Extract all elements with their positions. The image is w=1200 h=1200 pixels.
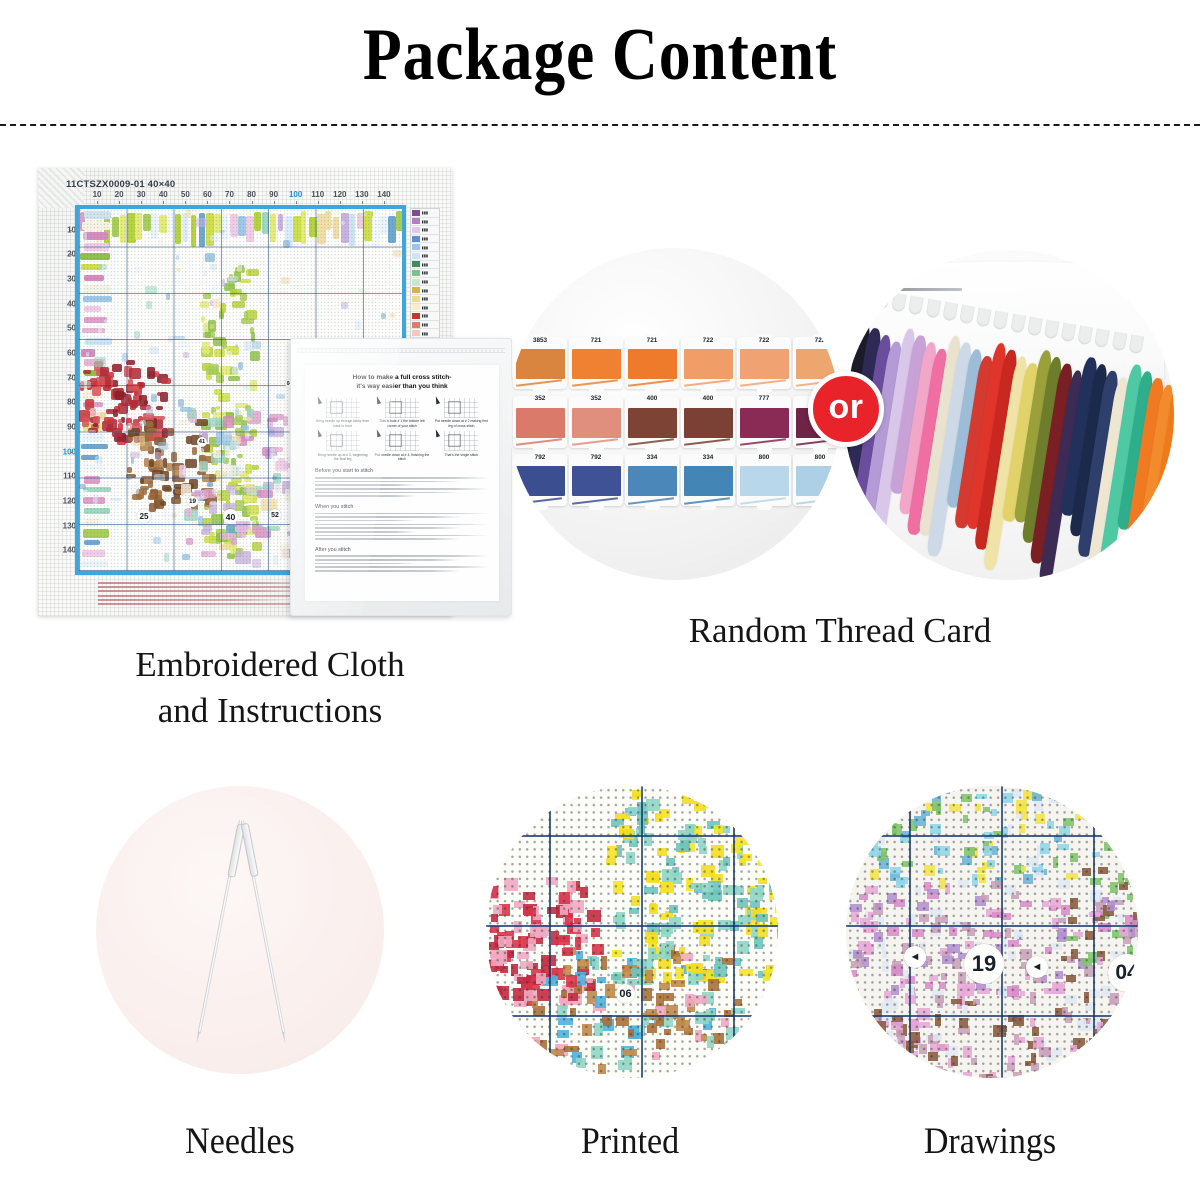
ruler-top-tick-label: 30 <box>137 190 146 199</box>
bobbin-code-label: 3853 <box>513 337 567 344</box>
thread-bobbin: 400 <box>681 393 735 452</box>
ruler-tick <box>70 550 73 551</box>
bobbin-thread-tail <box>572 380 618 387</box>
thread-bobbin: 800 <box>793 451 840 510</box>
ruler-tick <box>70 452 73 453</box>
bobbin-thread-tail <box>740 380 786 387</box>
warning-text-line <box>98 599 288 601</box>
ruler-tick <box>318 201 319 204</box>
legend-symbol: ▮▮▮ <box>422 288 429 293</box>
legend-symbol: ▮▮▮ <box>422 279 429 284</box>
ruler-top-tick-label: 80 <box>247 190 256 199</box>
closeup-symbol-marker: 04 <box>1108 954 1138 992</box>
ruler-left-tick-label: 20 <box>58 250 76 259</box>
bobbin-card <box>569 454 623 506</box>
bobbin-thread-tail <box>516 497 562 504</box>
bobbin-thread-tail <box>516 380 562 387</box>
organizer-card-code <box>898 288 962 291</box>
legend-swatch <box>412 279 420 285</box>
thread-bobbin: 722 <box>737 334 791 393</box>
instruction-step-caption: Put needle down at # 2 making first leg … <box>434 419 489 428</box>
bobbin-code-label: 792 <box>513 454 567 461</box>
thread-bobbin: 800 <box>737 451 791 510</box>
ruler-left-tick-label: 100 <box>58 447 76 456</box>
ruler-tick <box>274 201 275 204</box>
legend-symbol: ▮▮▮ <box>422 262 429 267</box>
bobbin-thread <box>740 408 789 438</box>
thread-bobbin: 3853 <box>513 334 567 393</box>
legend-swatch <box>412 304 420 310</box>
ruler-tick <box>70 353 73 354</box>
legend-symbol: ▮▮▮ <box>422 227 429 232</box>
ruler-tick <box>70 402 73 403</box>
legend-row: ▮▮▮ <box>411 269 439 278</box>
bobbin-thread-tail <box>628 497 674 504</box>
bobbin-card <box>625 454 679 506</box>
legend-row: ▮▮▮ <box>411 226 439 235</box>
bobbin-card <box>513 454 567 506</box>
legend-row: ▮▮▮ <box>411 329 439 338</box>
bobbin-thread-tail <box>740 497 786 504</box>
thread-card-group: 3853721721722722722352352400400777777792… <box>508 248 1180 598</box>
thread-bobbin-photo: 3853721721722722722352352400400777777792… <box>508 248 840 580</box>
legend-row: ▮▮▮ <box>411 252 439 261</box>
bobbin-thread <box>516 349 565 379</box>
bobbin-thread <box>516 466 565 496</box>
organizer-notch <box>874 290 890 310</box>
ruler-tick <box>70 279 73 280</box>
closeup-glyph-marker: ◄ <box>1026 956 1048 978</box>
caption-cloth-line2: and Instructions <box>30 688 510 734</box>
bobbin-thread <box>628 408 677 438</box>
bobbin-code-label: 721 <box>569 337 623 344</box>
drawings-grid-lines <box>846 786 1138 1078</box>
legend-swatch <box>412 296 420 302</box>
organizer-notch <box>1010 314 1026 334</box>
bobbin-thread-tail <box>572 438 618 445</box>
ruler-tick <box>70 328 73 329</box>
ruler-top-tick-label: 60 <box>203 190 212 199</box>
legend-swatch <box>412 210 420 216</box>
ruler-tick <box>70 254 73 255</box>
thread-bobbin: 722 <box>681 334 735 393</box>
ruler-tick <box>141 201 142 204</box>
closeup-symbol-marker: 19 <box>964 944 1004 984</box>
bobbin-code-label: 722 <box>737 337 791 344</box>
design-symbol-marker: 41 <box>197 437 207 447</box>
legend-swatch <box>412 322 420 328</box>
ruler-left-tick-label: 60 <box>58 349 76 358</box>
embroidered-cloth-group: 11CTSZX0009-01 40×40 1020304050607080901… <box>38 168 508 628</box>
closeup-symbol-marker: 06 <box>616 984 635 1003</box>
organizer-notch <box>925 299 941 319</box>
ruler-tick <box>296 201 297 204</box>
legend-symbol: ▮▮▮ <box>422 322 429 327</box>
legend-row: ▮▮▮ <box>411 218 439 227</box>
ruler-tick <box>70 230 73 231</box>
bobbin-thread-tail <box>628 380 674 387</box>
bobbin-grid: 3853721721722722722352352400400777777792… <box>512 334 840 510</box>
ruler-tick <box>252 201 253 204</box>
stitch-diagram <box>444 431 478 451</box>
or-badge: or <box>808 371 884 447</box>
bobbin-thread <box>572 466 621 496</box>
thread-bobbin: 352 <box>569 393 623 452</box>
thread-bobbin: 792 <box>569 451 623 510</box>
bobbin-thread <box>628 466 677 496</box>
fabric-code-label: 11CTSZX0009-01 40×40 <box>66 179 175 190</box>
thread-skein-photo <box>844 250 1174 580</box>
ruler-top-tick-label: 120 <box>333 190 346 199</box>
thread-bobbin: 721 <box>569 334 623 393</box>
bobbin-code-label: 334 <box>625 454 679 461</box>
caption-needles: Needles <box>130 1118 351 1166</box>
bobbin-code-label: 800 <box>793 454 840 461</box>
legend-swatch <box>412 236 420 242</box>
organizer-notch <box>993 311 1009 331</box>
ruler-tick <box>70 526 73 527</box>
bobbin-thread-tail <box>516 438 562 445</box>
ruler-left-tick-label: 10 <box>58 225 76 234</box>
thread-bobbin: 721 <box>625 334 679 393</box>
ruler-top-tick-label: 110 <box>311 190 324 199</box>
instruction-step-caption: That's the single stitch <box>434 453 489 457</box>
legend-swatch <box>412 270 420 276</box>
ruler-tick <box>185 201 186 204</box>
needle-icon <box>434 429 440 438</box>
ruler-tick <box>70 427 73 428</box>
bobbin-thread <box>740 349 789 379</box>
needle-icon <box>241 820 286 1035</box>
legend-row: ▮▮▮ <box>411 312 439 321</box>
bobbin-card <box>681 337 735 389</box>
ruler-top-tick-label: 40 <box>159 190 168 199</box>
caption-random-thread-card: Random Thread Card <box>560 608 1120 654</box>
legend-swatch <box>412 244 420 250</box>
legend-row: ▮▮▮ <box>411 304 439 313</box>
ruler-left-tick-label: 130 <box>58 521 76 530</box>
needle-icon <box>198 820 243 1035</box>
ruler-left-tick-label: 140 <box>58 546 76 555</box>
legend-symbol: ▮▮▮ <box>422 253 429 258</box>
ruler-tick <box>119 201 120 204</box>
closeup-glyph-marker: ◄ <box>904 946 926 968</box>
design-symbol-marker: 40 <box>223 509 238 524</box>
ruler-tick <box>384 201 385 204</box>
legend-symbol: ▮▮▮ <box>422 331 429 336</box>
ruler-tick <box>70 378 73 379</box>
bobbin-card <box>625 396 679 448</box>
legend-row: ▮▮▮ <box>411 286 439 295</box>
bobbin-thread <box>740 466 789 496</box>
legend-swatch <box>412 287 420 293</box>
ruler-tick <box>97 201 98 204</box>
bobbin-code-label: 722 <box>681 337 735 344</box>
bobbin-card <box>513 396 567 448</box>
bobbin-thread-tail <box>684 497 730 504</box>
legend-symbol: ▮▮▮ <box>422 219 429 224</box>
caption-drawings: Drawings <box>880 1118 1101 1166</box>
thread-bobbin: 777 <box>737 393 791 452</box>
ruler-left-tick-label: 90 <box>58 423 76 432</box>
legend-swatch <box>412 227 420 233</box>
ruler-left-tick-label: 80 <box>58 398 76 407</box>
organizer-notch <box>908 296 924 316</box>
organizer-notch <box>1111 331 1127 351</box>
caption-cloth-line1: Embroidered Cloth <box>30 642 510 688</box>
legend-swatch <box>412 253 420 259</box>
thread-bobbin: 334 <box>625 451 679 510</box>
instruction-step: Put needle down at # 2 making first leg … <box>434 398 489 428</box>
bobbin-thread <box>572 408 621 438</box>
bobbin-thread-tail <box>684 438 730 445</box>
instruction-packet: How to make a full cross stitch-it's way… <box>290 338 512 616</box>
bobbin-thread <box>516 408 565 438</box>
organizer-notch <box>891 293 907 313</box>
legend-symbol: ▮▮▮ <box>422 296 429 301</box>
thread-bobbin: 792 <box>513 451 567 510</box>
organizer-notch <box>942 302 958 322</box>
legend-swatch <box>412 218 420 224</box>
ruler-tick <box>70 476 73 477</box>
legend-row: ▮▮▮ <box>411 209 439 218</box>
legend-row: ▮▮▮ <box>411 243 439 252</box>
legend-symbol: ▮▮▮ <box>422 245 429 250</box>
needles-photo <box>96 786 384 1074</box>
drawings-closeup-photo: 1904◄◄ <box>846 786 1138 1078</box>
ruler-top-tick-label: 70 <box>225 190 234 199</box>
bobbin-card <box>737 396 791 448</box>
title-divider <box>0 124 1200 126</box>
bobbin-code-label: 400 <box>625 395 679 402</box>
legend-symbol: ▮▮▮ <box>422 210 429 215</box>
legend-swatch <box>412 261 420 267</box>
design-symbol-marker: 52 <box>269 509 281 521</box>
thread-bobbin: 334 <box>681 451 735 510</box>
organizer-notch <box>1094 328 1110 348</box>
ruler-left-tick-label: 40 <box>58 299 76 308</box>
bobbin-code-label: 721 <box>625 337 679 344</box>
bobbin-thread-tail <box>572 497 618 504</box>
organizer-notch <box>959 305 975 325</box>
ruler-top-tick-label: 10 <box>93 190 102 199</box>
bobbin-card <box>737 337 791 389</box>
bobbin-card <box>569 337 623 389</box>
legend-symbol: ▮▮▮ <box>422 313 429 318</box>
ruler-tick <box>70 304 73 305</box>
legend-swatch <box>412 330 420 336</box>
ruler-left-tick-label: 110 <box>58 472 76 481</box>
bobbin-thread <box>684 466 733 496</box>
or-badge-label: or <box>829 390 864 424</box>
bobbin-code-label: 800 <box>737 454 791 461</box>
ruler-top-tick-label: 100 <box>289 190 302 199</box>
legend-row: ▮▮▮ <box>411 261 439 270</box>
caption-embroidered-cloth: Embroidered Cloth and Instructions <box>30 642 510 733</box>
bobbin-card <box>569 396 623 448</box>
bobbin-card <box>513 337 567 389</box>
bobbin-code-label: 722 <box>793 337 840 344</box>
ruler-left-tick-label: 50 <box>58 324 76 333</box>
legend-row: ▮▮▮ <box>411 278 439 287</box>
bobbin-thread-tail <box>684 380 730 387</box>
bobbin-thread <box>684 408 733 438</box>
caption-printed: Printed <box>520 1118 741 1166</box>
ruler-left-tick-label: 30 <box>58 275 76 284</box>
ruler-top-tick-label: 130 <box>355 190 368 199</box>
bobbin-code-label: 352 <box>569 395 623 402</box>
instruction-step: That's the single stitch <box>434 431 489 461</box>
thread-bobbin: 400 <box>625 393 679 452</box>
thread-bobbin: 352 <box>513 393 567 452</box>
bobbin-thread <box>572 349 621 379</box>
legend-row: ▮▮▮ <box>411 321 439 330</box>
ruler-top-tick-label: 140 <box>377 190 390 199</box>
legend-row: ▮▮▮ <box>411 235 439 244</box>
ruler-tick <box>340 201 341 204</box>
ruler-top-tick-label: 50 <box>181 190 190 199</box>
organizer-notch <box>976 308 992 328</box>
organizer-notch <box>1044 319 1060 339</box>
bobbin-card <box>681 396 735 448</box>
legend-symbol: ▮▮▮ <box>422 236 429 241</box>
design-symbol-marker: 19 <box>187 496 198 507</box>
printed-grid-lines <box>486 786 778 1078</box>
bobbin-thread-tail <box>628 438 674 445</box>
bobbin-card <box>681 454 735 506</box>
legend-row: ▮▮▮ <box>411 295 439 304</box>
legend-swatch <box>412 313 420 319</box>
bobbin-thread-tail <box>740 438 786 445</box>
bobbin-card <box>625 337 679 389</box>
bobbin-thread <box>796 466 841 496</box>
ruler-top-tick-label: 90 <box>269 190 278 199</box>
bobbin-card <box>737 454 791 506</box>
ruler-top-tick-label: 20 <box>115 190 124 199</box>
bobbin-code-label: 400 <box>681 395 735 402</box>
needle-icon <box>434 395 440 404</box>
ruler-tick <box>362 201 363 204</box>
bobbin-code-label: 352 <box>513 395 567 402</box>
design-symbol-marker: 25 <box>137 509 151 523</box>
ruler-tick <box>229 201 230 204</box>
stitch-diagram <box>385 431 419 451</box>
printed-closeup-photo: 06 <box>486 786 778 1078</box>
legend-symbol: ▮▮▮ <box>422 270 429 275</box>
bobbin-thread <box>684 349 733 379</box>
stitch-diagram <box>444 398 478 418</box>
bobbin-thread <box>628 349 677 379</box>
bobbin-code-label: 777 <box>737 395 791 402</box>
organizer-notch <box>1128 334 1144 354</box>
ruler-left-tick-label: 70 <box>58 373 76 382</box>
legend-symbol: ▮▮▮ <box>422 305 429 310</box>
bobbin-thread-tail <box>796 497 840 504</box>
ruler-tick <box>207 201 208 204</box>
page-title: Package Content <box>84 0 1116 92</box>
bobbin-card <box>793 454 840 506</box>
bobbin-code-label: 334 <box>681 454 735 461</box>
ruler-tick <box>70 501 73 502</box>
organizer-notch <box>1027 316 1043 336</box>
ruler-tick <box>163 201 164 204</box>
organizer-notch <box>1077 325 1093 345</box>
bobbin-code-label: 792 <box>569 454 623 461</box>
ruler-left-tick-label: 120 <box>58 497 76 506</box>
organizer-notch <box>1060 322 1076 342</box>
